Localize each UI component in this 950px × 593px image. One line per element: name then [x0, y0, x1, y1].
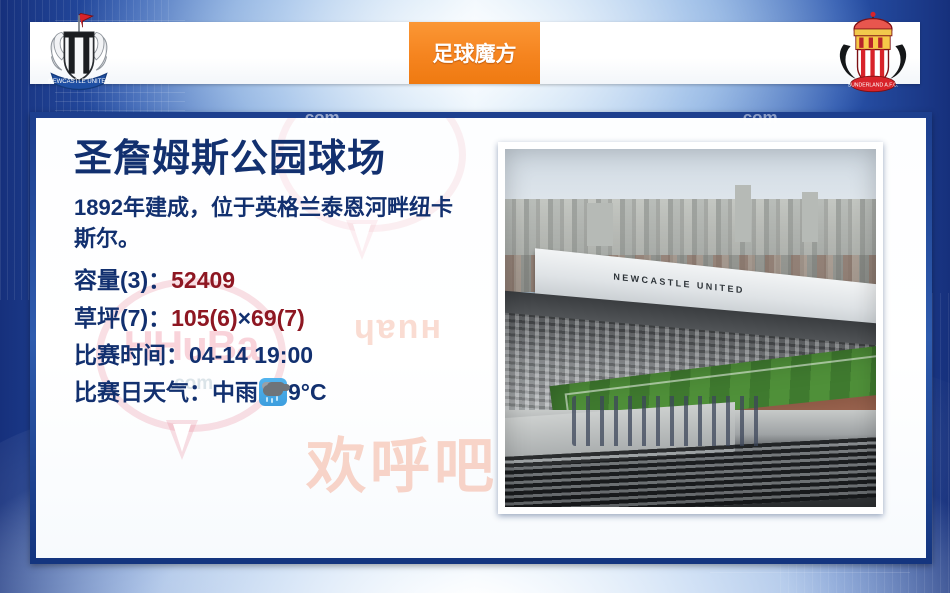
capacity-label: 容量(3)：: [74, 267, 171, 293]
stadium-description: 1892年建成，位于英格兰泰恩河畔纽卡斯尔。: [74, 192, 474, 254]
svg-text:SUNDERLAND A.F.C.: SUNDERLAND A.F.C.: [848, 83, 899, 89]
home-crest-icon: NEWCASTLE UNITED: [36, 10, 122, 96]
pitch-row: 草坪(7)：105(6)×69(7): [74, 300, 474, 337]
stadium-name: 圣詹姆斯公园球场: [74, 140, 474, 180]
stadium-photo-frame: NEWCASTLE UNITED: [498, 142, 883, 514]
match-time-label: 比赛时间：: [74, 342, 189, 368]
screenshot-root: NEWCASTLE UNITED 纽卡斯尔 足球魔方 桑德兰 SUNDERLA: [0, 0, 950, 593]
match-time-row: 比赛时间：04-14 19:00: [74, 337, 474, 374]
stadium-photo: NEWCASTLE UNITED: [505, 149, 876, 507]
weather-condition: 中雨: [212, 379, 258, 405]
photo-vignette: [505, 149, 876, 507]
weather-row: 比赛日天气：中雨9°C: [74, 374, 474, 411]
pitch-width: 69(7): [251, 305, 305, 331]
moderate-rain-icon: [259, 378, 287, 406]
pitch-multiply-sign: ×: [238, 305, 251, 331]
capacity-row: 容量(3)：52409: [74, 262, 474, 299]
weather-temperature: 9°C: [288, 379, 327, 405]
svg-text:NEWCASTLE UNITED: NEWCASTLE UNITED: [48, 79, 110, 85]
weather-label: 比赛日天气：: [74, 379, 212, 405]
match-time-value: 04-14 19:00: [189, 342, 313, 368]
stadium-info-panel: HHuBa .com 欢呼吧 欢呼吧 ɥɐnʜ 圣詹姆斯公园球场 1892年建成…: [30, 112, 932, 564]
site-logo-text: 足球魔方: [433, 38, 517, 68]
away-crest-icon: SUNDERLAND A.F.C.: [830, 10, 916, 96]
watermark-brand-1: 欢呼吧: [306, 418, 498, 505]
stadium-details: 圣詹姆斯公园球场 1892年建成，位于英格兰泰恩河畔纽卡斯尔。 容量(3)：52…: [74, 140, 474, 411]
capacity-value: 52409: [171, 267, 235, 293]
pitch-length: 105(6): [171, 305, 237, 331]
site-logo[interactable]: 足球魔方: [409, 22, 540, 84]
pitch-label: 草坪(7)：: [74, 305, 171, 331]
